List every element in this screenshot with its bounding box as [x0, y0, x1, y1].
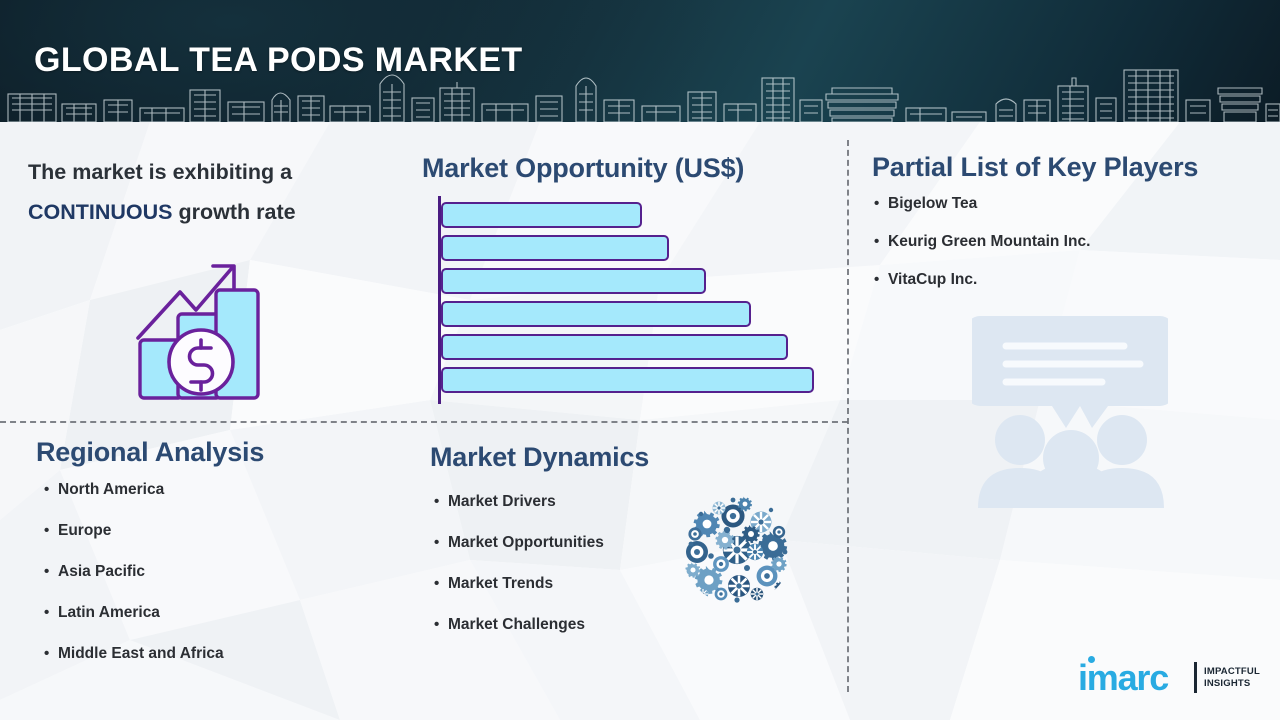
- chart-bar: [441, 235, 669, 261]
- list-item: • Middle East and Africa: [44, 645, 224, 663]
- list-item-label: Bigelow Tea: [888, 195, 977, 213]
- bullet-icon: •: [44, 522, 58, 540]
- chart-bar: [441, 334, 788, 360]
- list-item-label: Middle East and Africa: [58, 645, 224, 663]
- list-item: • VitaCup Inc.: [874, 271, 1090, 289]
- logo-separator: [1194, 662, 1197, 693]
- headline-line1: The market is exhibiting a: [28, 160, 292, 184]
- list-item: • Market Trends: [434, 575, 604, 593]
- list-item: • Market Challenges: [434, 616, 604, 634]
- market-dynamics-title: Market Dynamics: [430, 442, 649, 473]
- list-item-label: Keurig Green Mountain Inc.: [888, 233, 1090, 251]
- chart-bar: [441, 202, 642, 228]
- headline-accent: CONTINUOUS: [28, 200, 173, 224]
- header-banner: GLOBAL TEA PODS MARKET: [0, 0, 1280, 122]
- headline-statement: The market is exhibiting a CONTINUOUS gr…: [28, 152, 408, 232]
- list-item: • North America: [44, 481, 224, 499]
- logo-tagline: IMPACTFUL INSIGHTS: [1204, 666, 1260, 689]
- list-item-label: Market Trends: [448, 575, 553, 593]
- bullet-icon: •: [434, 493, 448, 511]
- market-opportunity-title: Market Opportunity (US$): [422, 153, 744, 184]
- page-title: GLOBAL TEA PODS MARKET: [34, 41, 523, 80]
- bullet-icon: •: [874, 195, 888, 213]
- key-players-title: Partial List of Key Players: [872, 152, 1198, 183]
- headline-line2: growth rate: [173, 200, 296, 224]
- bullet-icon: •: [44, 604, 58, 622]
- growth-bar-chart-dollar-icon: [133, 252, 265, 400]
- market-opportunity-chart: [438, 196, 828, 406]
- bullet-icon: •: [874, 233, 888, 251]
- chart-bar: [441, 367, 814, 393]
- chart-bar: [441, 301, 751, 327]
- list-item-label: Asia Pacific: [58, 563, 145, 581]
- people-speech-bubble-icon: [972, 312, 1168, 508]
- imarc-logo: imarc IMPACTFUL INSIGHTS: [1078, 656, 1264, 702]
- key-players-list: • Bigelow Tea • Keurig Green Mountain In…: [874, 195, 1090, 289]
- list-item-label: VitaCup Inc.: [888, 271, 977, 289]
- list-item-label: Market Opportunities: [448, 534, 604, 552]
- chart-bar: [441, 268, 706, 294]
- bullet-icon: •: [44, 563, 58, 581]
- logo-tagline-line2: INSIGHTS: [1204, 678, 1260, 690]
- gears-circle-icon: [681, 494, 793, 606]
- divider-vertical: [847, 140, 849, 692]
- list-item: • Latin America: [44, 604, 224, 622]
- bullet-icon: •: [874, 271, 888, 289]
- list-item: • Asia Pacific: [44, 563, 224, 581]
- regional-analysis-list: • North America • Europe • Asia Pacific …: [44, 481, 224, 663]
- bullet-icon: •: [44, 645, 58, 663]
- bullet-icon: •: [434, 616, 448, 634]
- list-item-label: Europe: [58, 522, 111, 540]
- list-item-label: Market Drivers: [448, 493, 556, 511]
- list-item: • Keurig Green Mountain Inc.: [874, 233, 1090, 251]
- regional-analysis-title: Regional Analysis: [36, 437, 264, 468]
- list-item: • Bigelow Tea: [874, 195, 1090, 213]
- list-item-label: Market Challenges: [448, 616, 585, 634]
- list-item-label: Latin America: [58, 604, 160, 622]
- list-item: • Europe: [44, 522, 224, 540]
- infographic-slide: GLOBAL TEA PODS MARKET The market is exh…: [0, 0, 1280, 720]
- list-item-label: North America: [58, 481, 164, 499]
- bullet-icon: •: [434, 575, 448, 593]
- market-dynamics-list: • Market Drivers • Market Opportunities …: [434, 493, 604, 634]
- list-item: • Market Drivers: [434, 493, 604, 511]
- list-item: • Market Opportunities: [434, 534, 604, 552]
- bullet-icon: •: [44, 481, 58, 499]
- logo-wordmark: imarc: [1078, 658, 1168, 698]
- bullet-icon: •: [434, 534, 448, 552]
- logo-tagline-line1: IMPACTFUL: [1204, 666, 1260, 678]
- divider-horizontal: [0, 421, 848, 423]
